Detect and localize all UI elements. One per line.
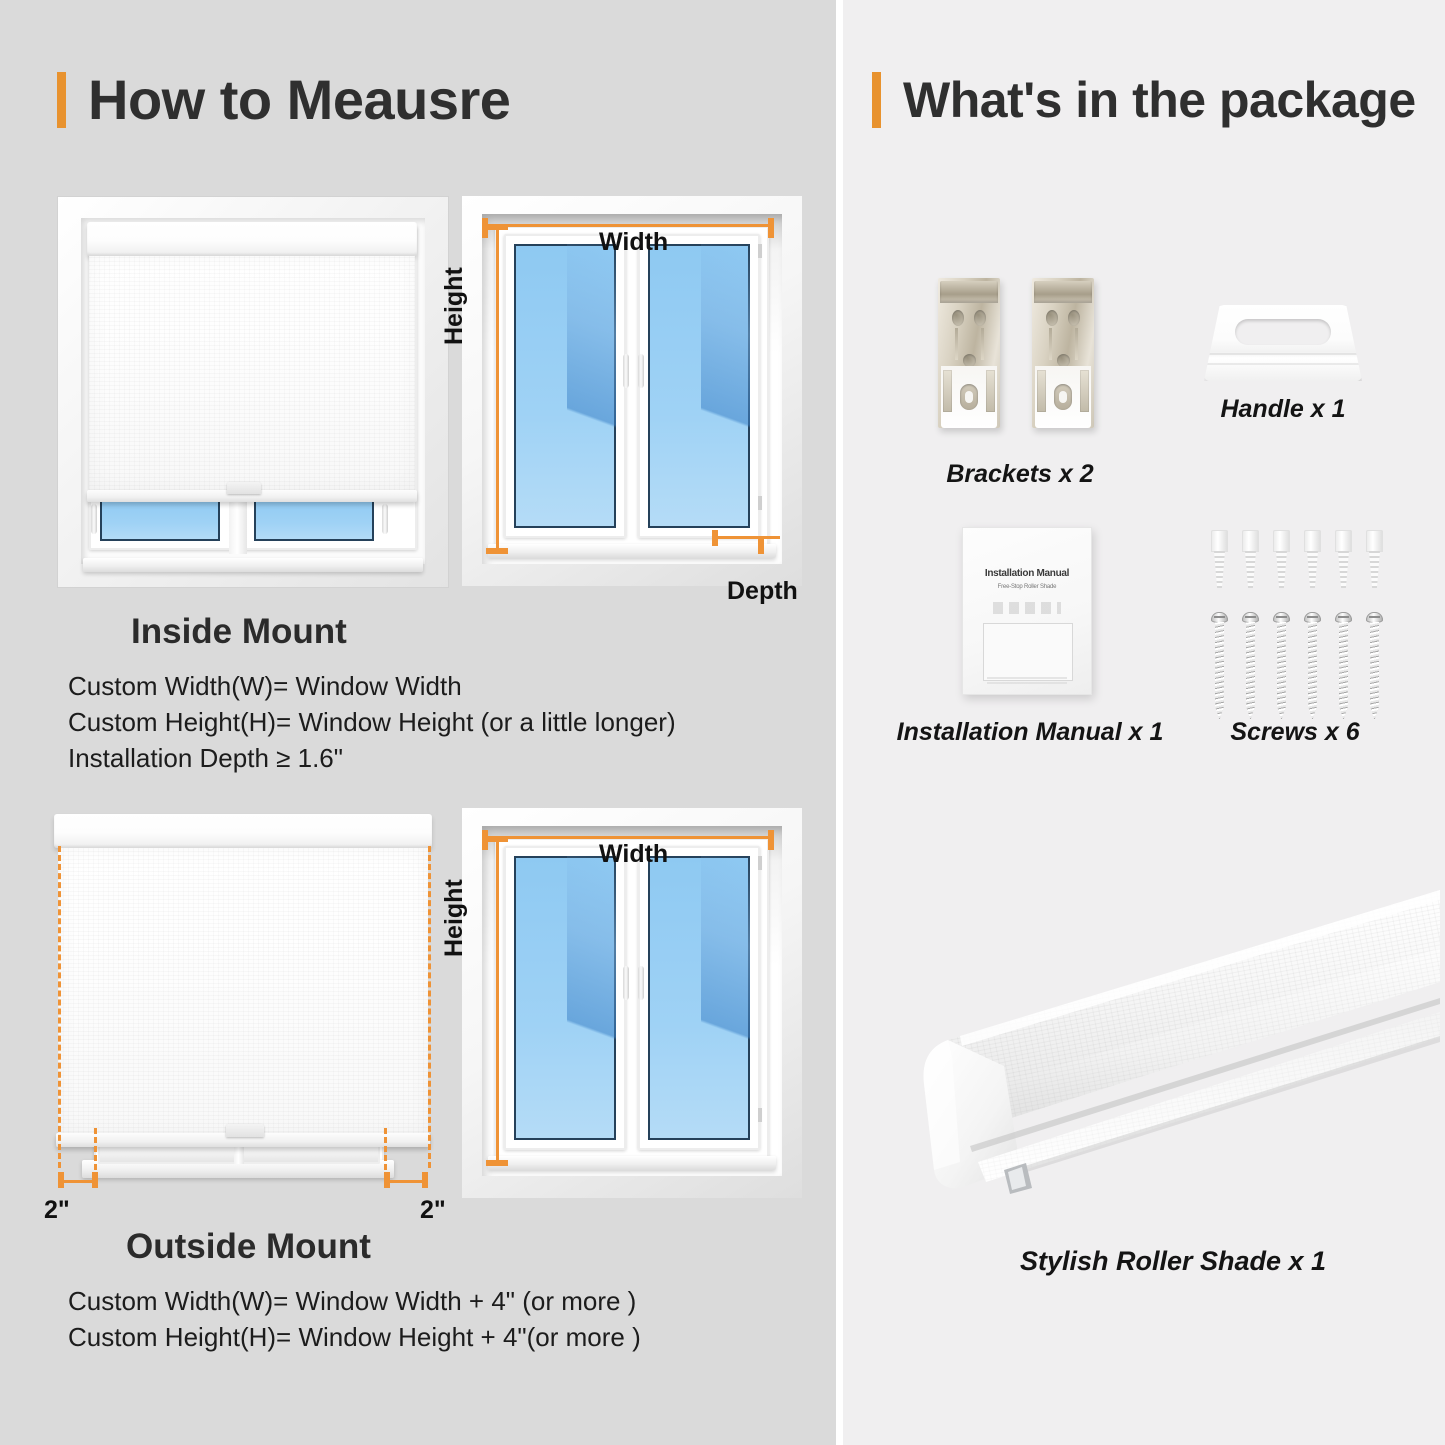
manual-label: Installation Manual x 1 (880, 718, 1180, 747)
bracket-rib (955, 328, 958, 360)
inside-mount-title: Inside Mount (131, 612, 347, 652)
bracket-rib (1049, 328, 1052, 360)
screw-icon (1242, 612, 1259, 720)
panel-divider (836, 0, 843, 1445)
handle-ridge (1204, 363, 1362, 365)
sash-handle-left-icon (623, 354, 629, 388)
roller-shade-icon (900, 870, 1440, 1210)
width-measure-line (482, 224, 774, 227)
overhang-cap-right-inner (384, 1172, 390, 1188)
orange-accent-bar-icon (872, 72, 881, 128)
brackets-label: Brackets x 2 (900, 460, 1140, 489)
glass-highlight-right (701, 244, 750, 528)
overhang-cap-left-outer (58, 1172, 64, 1188)
bracket-side-tab (986, 370, 995, 412)
wall-anchor-icon (1241, 530, 1260, 588)
manual-cover-figure (983, 623, 1073, 681)
bracket-rib (981, 328, 984, 360)
width-measure-line (482, 836, 774, 839)
bracket-hole (1068, 310, 1080, 326)
manual-icon: Installation Manual Free-Stop Roller Sha… (962, 527, 1092, 695)
overhang-label-left: 2" (44, 1196, 70, 1225)
outside-height-label: Height (440, 879, 469, 957)
height-measure-cap-top (486, 224, 508, 230)
infographic-page: How to Meausre What's in the package (0, 0, 1445, 1445)
bracket-hole (974, 310, 986, 326)
window-sill (83, 558, 423, 572)
overhang-cap-left-inner (92, 1172, 98, 1188)
inside-width-label: Width (599, 228, 668, 257)
outside-mount-title: Outside Mount (126, 1227, 371, 1267)
height-measure-cap-bottom (486, 1160, 508, 1166)
shade-fabric (58, 848, 428, 1136)
shade-valance (54, 814, 432, 848)
bracket-icon (938, 278, 1000, 428)
hinge-top-icon (758, 244, 762, 258)
outside-width-label: Width (599, 840, 668, 869)
wall-anchor-icon (1272, 530, 1291, 588)
depth-measure-line (712, 536, 780, 539)
handle-label: Handle x 1 (1163, 395, 1403, 424)
glass-pane-right (254, 496, 374, 541)
hinge-bottom-icon (758, 1108, 762, 1122)
manual-cover-footer (987, 674, 1067, 684)
screw-icon (1273, 612, 1290, 720)
window-sill (488, 544, 776, 558)
depth-measure-cap-left (712, 530, 718, 546)
how-to-measure-heading: How to Meausre (57, 72, 510, 128)
inside-spec-1: Custom Width(W)= Window Width (68, 671, 462, 702)
inside-spec-2: Custom Height(H)= Window Height (or a li… (68, 707, 676, 738)
manual-cover-line (993, 602, 1061, 614)
bracket-rib (1075, 328, 1078, 360)
bracket-hole (1046, 310, 1058, 326)
overhang-guide-left (58, 846, 61, 1168)
handle-slot (1235, 319, 1331, 345)
shade-fabric (89, 256, 415, 490)
package-heading: What's in the package (872, 72, 1416, 128)
depth-measure-cap-right (758, 536, 764, 554)
sash-handle-right-icon (382, 504, 388, 534)
outside-spec-1: Custom Width(W)= Window Width + 4" (or m… (68, 1286, 636, 1317)
glass-highlight-left (567, 244, 616, 528)
screw-icon (1304, 612, 1321, 720)
screw-icon (1211, 612, 1228, 720)
glass-highlight-left (567, 856, 616, 1140)
wall-anchor-icon (1210, 530, 1229, 588)
window-edge-guide-right (384, 1128, 387, 1170)
wall-anchor-icon (1365, 530, 1384, 588)
orange-accent-bar-icon (57, 72, 66, 128)
bracket-keyhole (960, 384, 978, 410)
bracket-side-tab (943, 370, 952, 412)
hinge-bottom-icon (758, 496, 762, 510)
shade-valance (87, 222, 417, 256)
outside-mount-illustration (38, 808, 448, 1200)
bracket-keyhole (1054, 384, 1072, 410)
package-heading-text: What's in the package (903, 75, 1416, 125)
inside-height-label: Height (440, 267, 469, 345)
overhang-guide-right (428, 846, 431, 1168)
sash-handle-right-icon (638, 966, 644, 1000)
screw-icon (1335, 612, 1352, 720)
sash-handle-left-icon (623, 966, 629, 1000)
bracket-side-tab (1037, 370, 1046, 412)
shade-pull-handle (226, 1124, 264, 1137)
how-to-measure-heading-text: How to Meausre (88, 72, 510, 128)
width-measure-cap-right (768, 218, 774, 238)
overhang-label-right: 2" (420, 1196, 446, 1225)
inside-spec-3: Installation Depth ≥ 1.6" (68, 743, 343, 774)
height-measure-line (496, 836, 499, 1164)
window-edge-guide-left (94, 1128, 97, 1170)
height-measure-cap-top (486, 836, 508, 842)
overhang-cap-right-outer (422, 1172, 428, 1188)
bracket-flange (940, 281, 998, 303)
sash-handle-right-icon (638, 354, 644, 388)
inside-mount-illustration (57, 196, 449, 588)
width-measure-cap-right (768, 830, 774, 850)
manual-cover-subtitle: Free-Stop Roller Shade (963, 584, 1091, 590)
height-measure-line (496, 224, 499, 552)
screw-icon (1366, 612, 1383, 720)
hinge-top-icon (758, 856, 762, 870)
bracket-side-tab (1080, 370, 1089, 412)
bracket-hole (952, 310, 964, 326)
wall-anchor-icon (1303, 530, 1322, 588)
manual-cover-title: Installation Manual (963, 568, 1091, 579)
glass-pane-left (100, 496, 220, 541)
roller-shade-label: Stylish Roller Shade x 1 (938, 1246, 1408, 1277)
sash-handle-left-icon (91, 504, 97, 534)
wall-anchor-icon (1334, 530, 1353, 588)
handle-icon (1204, 305, 1362, 381)
window-sill (488, 1156, 776, 1170)
shade-pull-handle (227, 482, 261, 494)
screws-label: Screws x 6 (1170, 718, 1420, 747)
inside-depth-label: Depth (727, 577, 798, 606)
bracket-icon (1032, 278, 1094, 428)
height-measure-cap-bottom (486, 548, 508, 554)
glass-highlight-right (701, 856, 750, 1140)
bracket-flange (1034, 281, 1092, 303)
handle-ridge (1204, 353, 1362, 355)
outside-spec-2: Custom Height(H)= Window Height + 4"(or … (68, 1322, 641, 1353)
